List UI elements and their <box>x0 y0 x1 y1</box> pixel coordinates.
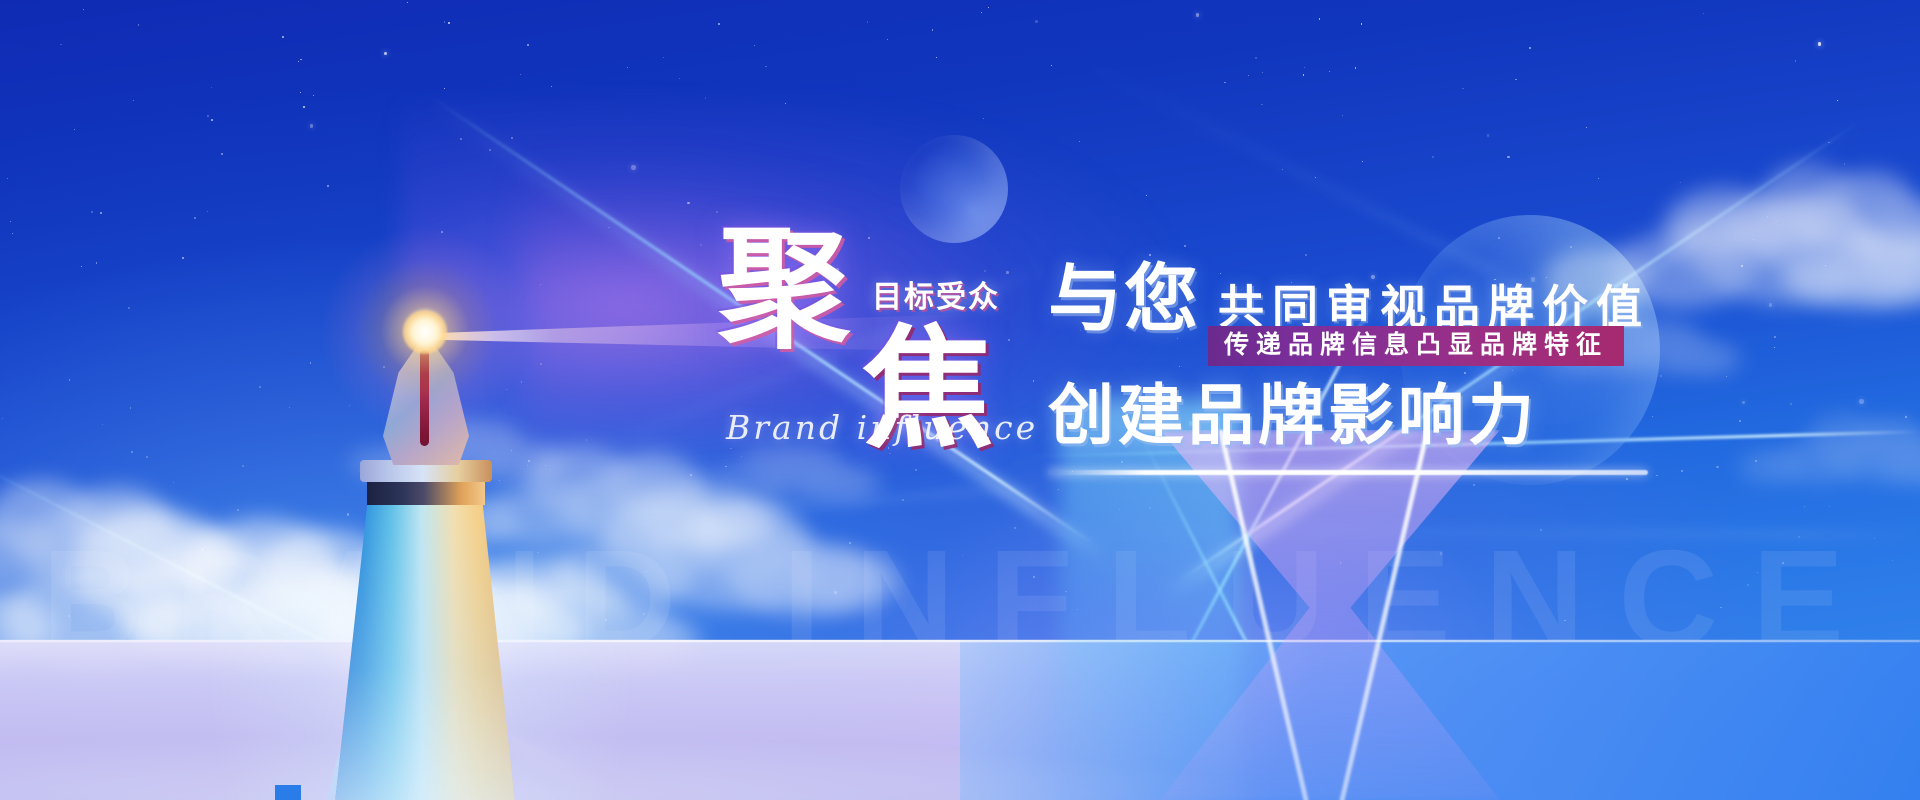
headline-row-1: 与您 共同审视品牌价值 <box>1048 262 1650 336</box>
status-badge: 传递品牌信息凸显品牌特征 <box>1208 326 1624 366</box>
banner-content: 聚 焦 目标受众 Brand influence 与您 共同审视品牌价值 传递品… <box>0 0 1920 800</box>
headline-row-2: 创建品牌影响力 <box>1048 382 1538 448</box>
brand-influence-script: Brand influence <box>726 408 1038 447</box>
headline-char-ju: 聚 <box>718 225 850 357</box>
target-audience-tag: 目标受众 <box>872 272 1000 316</box>
headline-underline <box>1048 470 1648 475</box>
headline-lead-with-you: 与您 <box>1048 262 1200 336</box>
headline-review-brand-value: 共同审视品牌价值 <box>1218 284 1650 330</box>
brand-banner: BRAND INFLUENCE 聚 焦 目标受众 Brand influence… <box>0 0 1920 800</box>
